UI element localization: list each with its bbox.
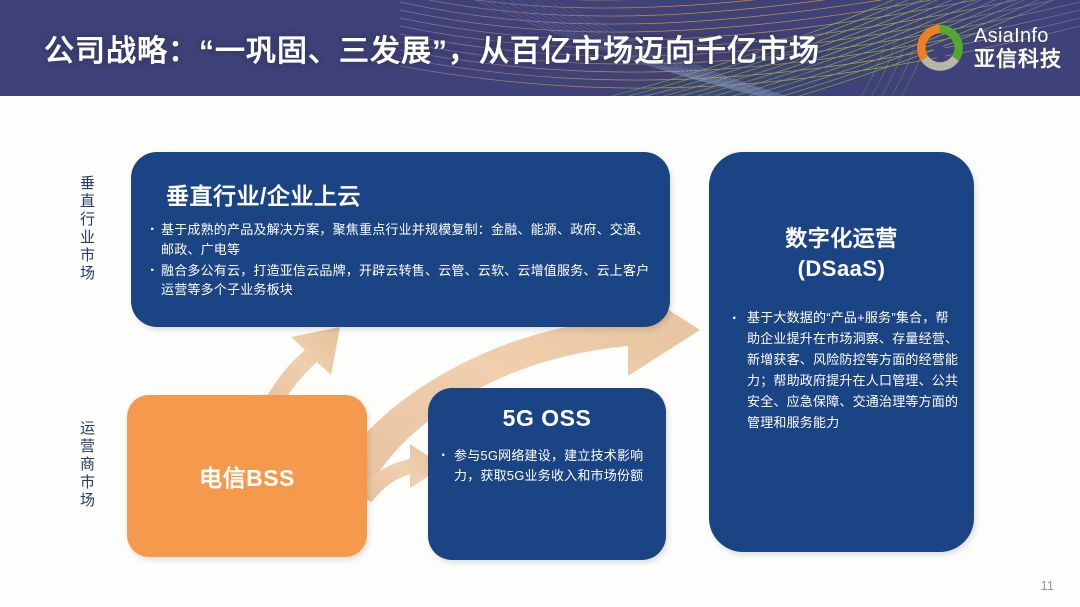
page-title: 公司战略：“一巩固、三发展”，从百亿市场迈向千亿市场 — [44, 26, 820, 70]
card-dsaas-title-line1: 数字化运营 — [709, 224, 974, 254]
card-5g-oss-bullets: 参与5G网络建设，建立技术影响力，获取5G业务收入和市场份额 — [438, 446, 660, 486]
card-dsaas-title: 数字化运营 (DSaaS) — [709, 224, 974, 283]
card-5g-oss-title: 5G OSS — [428, 405, 666, 432]
side-label-vertical-market: 垂直行业市场 — [72, 175, 98, 283]
logo-text: AsiaInfo 亚信科技 — [974, 26, 1062, 70]
card-vertical-industry[interactable]: 垂直行业/企业上云 基于成熟的产品及解决方案，聚焦重点行业并规模复制：金融、能源… — [131, 152, 670, 327]
list-item: 参与5G网络建设，建立技术影响力，获取5G业务收入和市场份额 — [438, 446, 660, 485]
list-item: 融合多公有云，打造亚信云品牌，开辟云转售、云管、云软、云增值服务、云上客户运营等… — [147, 261, 659, 301]
card-vertical-industry-title: 垂直行业/企业上云 — [166, 177, 361, 211]
card-vertical-industry-bullets: 基于成熟的产品及解决方案，聚焦重点行业并规模复制：金融、能源、政府、交通、邮政、… — [147, 220, 659, 301]
card-5g-oss[interactable]: 5G OSS 参与5G网络建设，建立技术影响力，获取5G业务收入和市场份额 — [428, 388, 666, 560]
list-item: 基于大数据的“产品+服务”集合，帮助企业提升在市场洞察、存量经营、新增获客、风险… — [731, 307, 959, 433]
asiainfo-ring-logo-icon — [915, 23, 965, 73]
logo-text-cn: 亚信科技 — [974, 49, 1062, 70]
card-dsaas-bullets: 基于大数据的“产品+服务”集合，帮助企业提升在市场洞察、存量经营、新增获客、风险… — [731, 307, 959, 434]
slide: 公司战略：“一巩固、三发展”，从百亿市场迈向千亿市场 AsiaInfo 亚信科技 — [0, 0, 1080, 607]
asiainfo-logo: AsiaInfo 亚信科技 — [915, 20, 1062, 76]
card-dsaas[interactable]: 数字化运营 (DSaaS) 基于大数据的“产品+服务”集合，帮助企业提升在市场洞… — [709, 152, 974, 552]
side-label-operator-market: 运营商市场 — [72, 420, 98, 510]
slide-header: 公司战略：“一巩固、三发展”，从百亿市场迈向千亿市场 AsiaInfo 亚信科技 — [0, 0, 1080, 96]
card-telecom-bss-title: 电信BSS — [127, 395, 367, 557]
card-telecom-bss[interactable]: 电信BSS — [127, 395, 367, 557]
page-number: 11 — [1041, 578, 1055, 593]
logo-text-en: AsiaInfo — [974, 26, 1062, 46]
list-item: 基于成熟的产品及解决方案，聚焦重点行业并规模复制：金融、能源、政府、交通、邮政、… — [147, 220, 659, 260]
card-dsaas-title-line2: (DSaaS) — [709, 254, 974, 284]
